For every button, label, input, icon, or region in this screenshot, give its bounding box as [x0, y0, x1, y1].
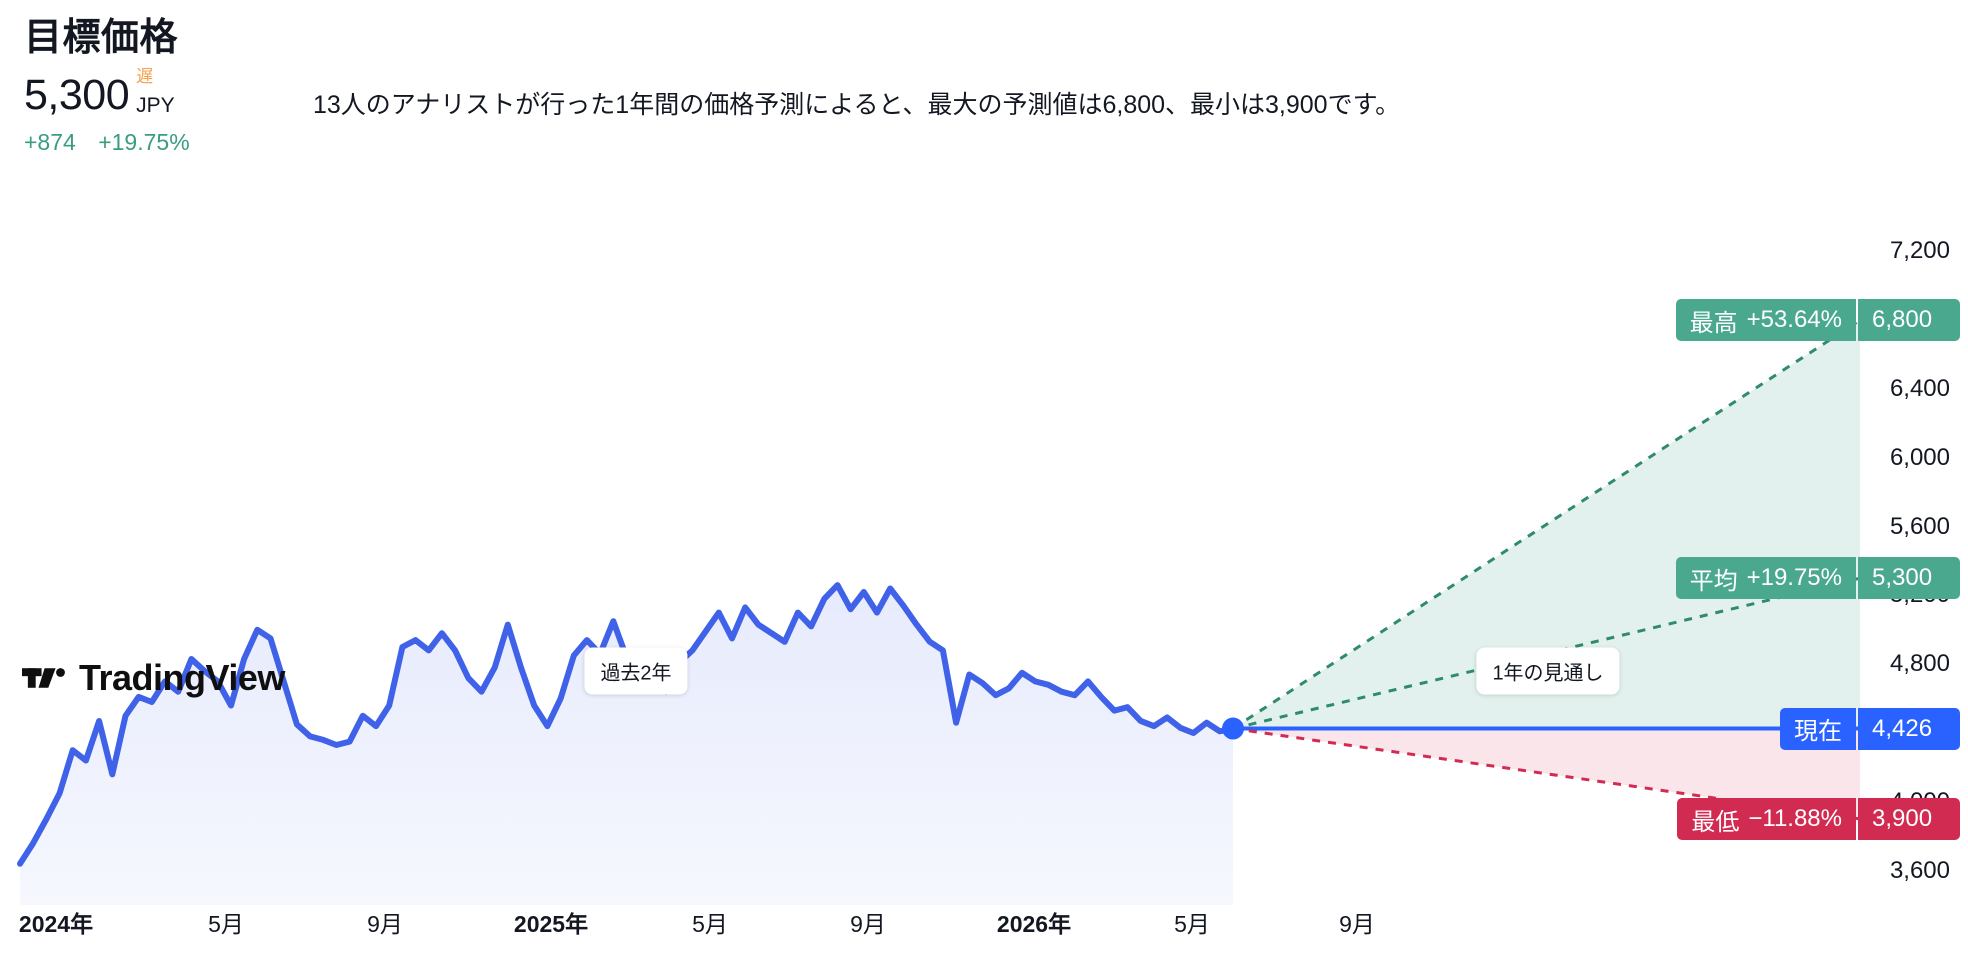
y-tick-5600: 5,600: [1890, 513, 1950, 541]
header: 目標価格 5,300 遅 JPY +874 +19.75% 13人のアナリストが…: [0, 0, 1968, 210]
badge-high-label: 最高: [1690, 303, 1738, 338]
tradingview-mark-icon: [22, 663, 66, 693]
x-tick-sep-2026: 9月: [1339, 905, 1375, 939]
x-tick-2024: 2024年: [19, 905, 93, 939]
badge-average-label: 平均: [1690, 561, 1738, 596]
history-area-fill: [20, 585, 1233, 905]
x-tick-2025: 2025年: [514, 905, 588, 939]
page-title: 目標価格: [24, 18, 314, 60]
x-tick-sep-2024: 9月: [367, 905, 403, 939]
tradingview-logo[interactable]: TradingView: [22, 660, 285, 696]
x-axis: 2024年 5月 9月 2025年 5月 9月 2026年 5月 9月: [0, 905, 1968, 965]
badge-low-value: 3,900: [1858, 798, 1960, 840]
change-row: +874 +19.75%: [24, 129, 314, 156]
pill-forecast-range[interactable]: 1年の見通し: [1476, 648, 1619, 695]
chart-canvas: [0, 205, 1968, 905]
x-tick-2026: 2026年: [997, 905, 1071, 939]
header-summary: 目標価格 5,300 遅 JPY +874 +19.75%: [24, 18, 314, 156]
current-price-marker[interactable]: [1222, 718, 1244, 740]
price-row: 5,300 遅 JPY: [24, 74, 314, 117]
status-badge-current[interactable]: 現在 4,426: [1780, 708, 1960, 750]
x-tick-may-2024: 5月: [208, 905, 244, 939]
badge-current-value: 4,426: [1858, 708, 1960, 750]
currency-label: JPY: [136, 94, 175, 117]
forecast-description: 13人のアナリストが行った1年間の価格予測によると、最大の予測値は6,800、最…: [313, 86, 1933, 124]
delayed-data-icon[interactable]: 遅: [136, 68, 153, 85]
change-percent: +19.75%: [98, 129, 189, 155]
badge-high-percent: +53.64%: [1747, 306, 1842, 334]
change-absolute: +874: [24, 129, 76, 155]
badge-high-value: 6,800: [1858, 299, 1960, 341]
x-tick-may-2025: 5月: [692, 905, 728, 939]
price-target-chart: 7,200 6,400 6,000 5,600 5,200 4,800 4,40…: [0, 205, 1968, 970]
x-tick-sep-2025: 9月: [850, 905, 886, 939]
badge-average-percent: +19.75%: [1747, 564, 1842, 592]
tradingview-wordmark: TradingView: [79, 660, 285, 696]
badge-low-label: 最低: [1691, 802, 1739, 837]
y-tick-3600: 3,600: [1890, 857, 1950, 885]
history-series: [20, 585, 1233, 905]
badge-low-percent: −11.88%: [1748, 805, 1842, 833]
y-tick-4800: 4,800: [1890, 650, 1950, 678]
pill-history-range[interactable]: 過去2年: [584, 648, 687, 695]
status-badge-low[interactable]: 最低 −11.88% 3,900: [1677, 798, 1960, 840]
status-badge-high[interactable]: 最高 +53.64% 6,800: [1676, 299, 1960, 341]
badge-current-label: 現在: [1794, 711, 1842, 746]
status-badge-average[interactable]: 平均 +19.75% 5,300: [1676, 557, 1960, 599]
y-tick-7200: 7,200: [1890, 237, 1950, 265]
y-tick-6000: 6,000: [1890, 444, 1950, 472]
target-price-value: 5,300: [24, 74, 129, 117]
badge-average-value: 5,300: [1858, 557, 1960, 599]
x-tick-may-2026: 5月: [1174, 905, 1210, 939]
y-tick-6400: 6,400: [1890, 375, 1950, 403]
